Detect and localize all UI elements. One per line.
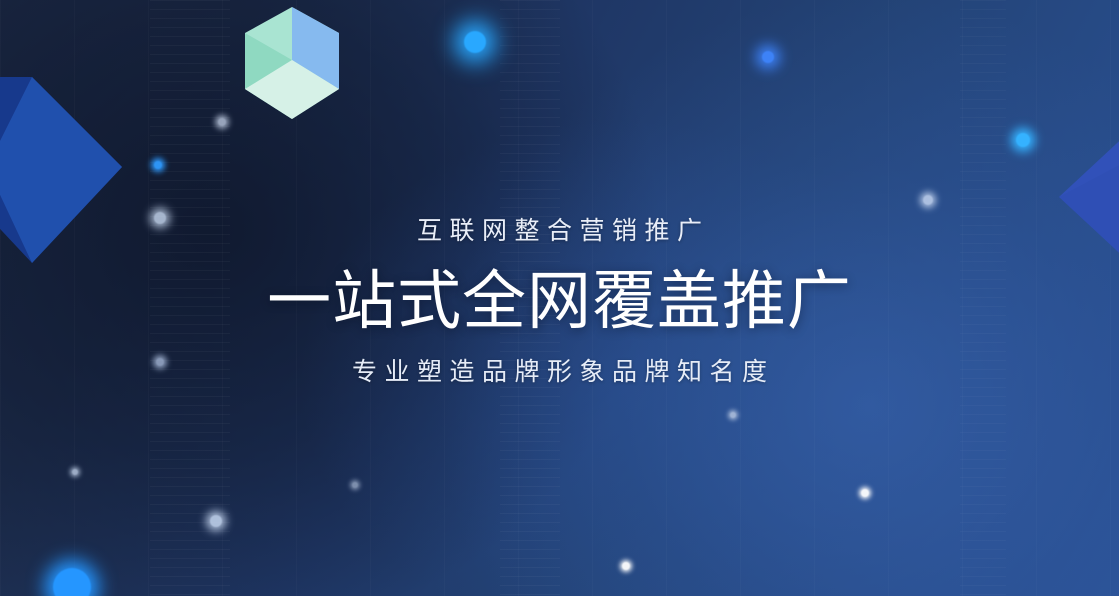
hero-eyebrow: 互联网整合营销推广 — [0, 214, 1119, 248]
hero-banner: 互联网整合营销推广 一站式全网覆盖推广 专业塑造品牌形象品牌知名度 — [0, 0, 1119, 596]
isometric-cube-icon — [245, 7, 339, 119]
hero-text-block: 互联网整合营销推广 一站式全网覆盖推广 专业塑造品牌形象品牌知名度 — [0, 214, 1119, 389]
hero-headline: 一站式全网覆盖推广 — [0, 263, 1119, 339]
hero-subline: 专业塑造品牌形象品牌知名度 — [0, 355, 1119, 389]
